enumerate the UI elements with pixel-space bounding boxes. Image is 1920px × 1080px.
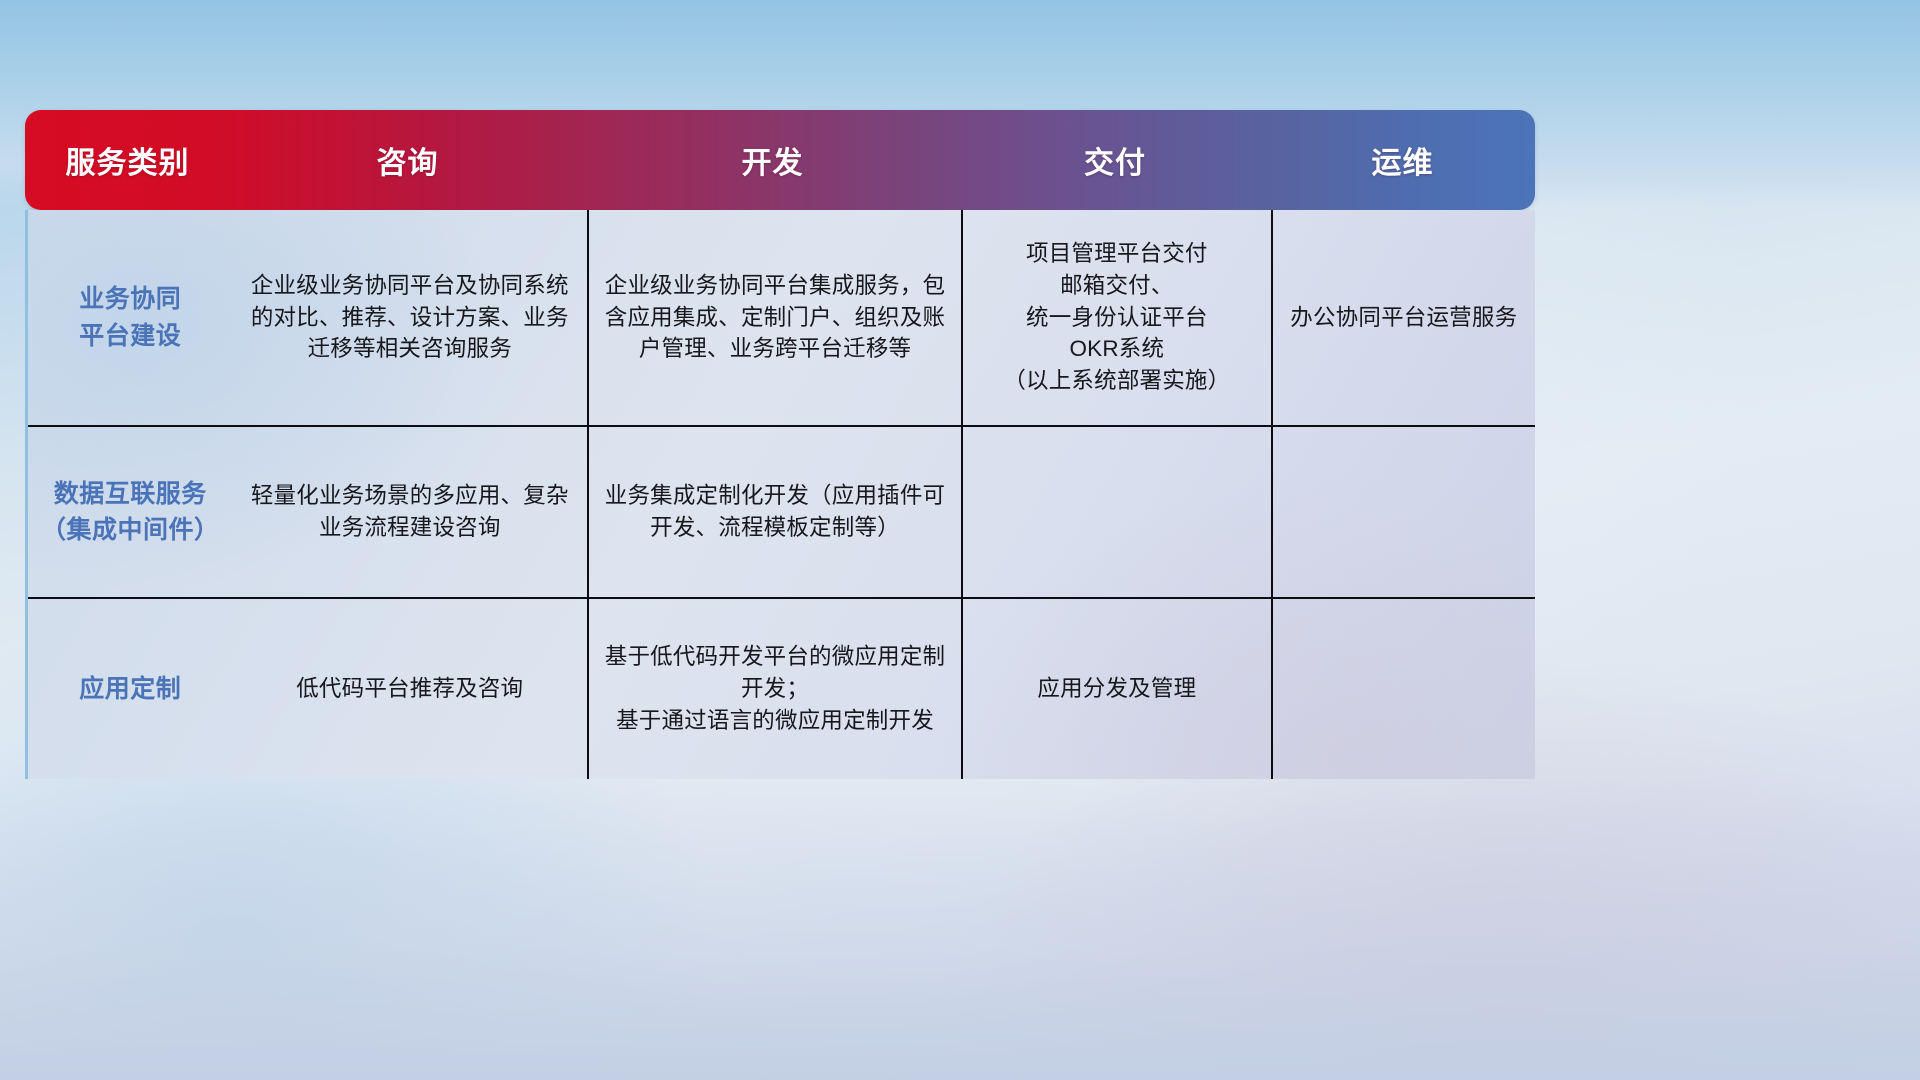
column-header-operations: 运维 [1270,138,1535,182]
table-row: 业务协同平台建设 企业级业务协同平台及协同系统的对比、推荐、设计方案、业务迁移等… [28,210,1535,427]
column-header-development: 开发 [585,138,960,182]
cell-development: 业务集成定制化开发（应用插件可开发、流程模板定制等） [587,427,961,597]
cell-text: 办公协同平台运营服务 [1290,302,1517,334]
cell-delivery [961,427,1270,597]
cell-text: 低代码平台推荐及咨询 [296,673,523,705]
cell-text: 业务集成定制化开发（应用插件可开发、流程模板定制等） [601,480,949,544]
service-matrix-table: 服务类别 咨询 开发 交付 运维 业务协同平台建设 企业级业务协同平台及协同系统… [25,110,1535,775]
row-label: 数据互联服务（集成中间件） [41,476,220,549]
column-header-delivery: 交付 [960,138,1270,182]
cell-text: 应用分发及管理 [1037,673,1196,705]
table-row: 数据互联服务（集成中间件） 轻量化业务场景的多应用、复杂业务流程建设咨询 业务集… [28,427,1535,599]
row-label: 业务协同平台建设 [79,281,181,354]
cell-text: 基于低代码开发平台的微应用定制开发；基于通过语言的微应用定制开发 [601,641,949,737]
cell-text: 企业级业务协同平台集成服务，包含应用集成、定制门户、组织及账户管理、业务跨平台迁… [601,270,949,366]
table-row: 应用定制 低代码平台推荐及咨询 基于低代码开发平台的微应用定制开发；基于通过语言… [28,599,1535,779]
column-header-category: 服务类别 [25,138,230,182]
row-label-cell: 数据互联服务（集成中间件） [28,427,233,597]
table-header-row: 服务类别 咨询 开发 交付 运维 [25,110,1535,210]
cell-text: 企业级业务协同平台及协同系统的对比、推荐、设计方案、业务迁移等相关咨询服务 [245,270,575,366]
row-label-cell: 应用定制 [28,599,233,779]
cell-operations: 办公协同平台运营服务 [1271,210,1535,425]
cell-consulting: 轻量化业务场景的多应用、复杂业务流程建设咨询 [233,427,587,597]
cell-text: 轻量化业务场景的多应用、复杂业务流程建设咨询 [245,480,575,544]
cell-consulting: 低代码平台推荐及咨询 [233,599,587,779]
row-label: 应用定制 [79,671,181,707]
background-bottom-gradient [0,780,1920,1080]
cell-development: 企业级业务协同平台集成服务，包含应用集成、定制门户、组织及账户管理、业务跨平台迁… [587,210,961,425]
cell-consulting: 企业级业务协同平台及协同系统的对比、推荐、设计方案、业务迁移等相关咨询服务 [233,210,587,425]
cell-delivery: 项目管理平台交付邮箱交付、统一身份认证平台OKR系统（以上系统部署实施） [961,210,1270,425]
cell-text: 项目管理平台交付邮箱交付、统一身份认证平台OKR系统（以上系统部署实施） [1003,238,1230,398]
cell-development: 基于低代码开发平台的微应用定制开发；基于通过语言的微应用定制开发 [587,599,961,779]
cell-delivery: 应用分发及管理 [961,599,1270,779]
cell-operations [1271,427,1535,597]
cell-operations [1271,599,1535,779]
column-header-consulting: 咨询 [230,138,585,182]
row-label-cell: 业务协同平台建设 [28,210,233,425]
table-body: 业务协同平台建设 企业级业务协同平台及协同系统的对比、推荐、设计方案、业务迁移等… [25,210,1535,779]
